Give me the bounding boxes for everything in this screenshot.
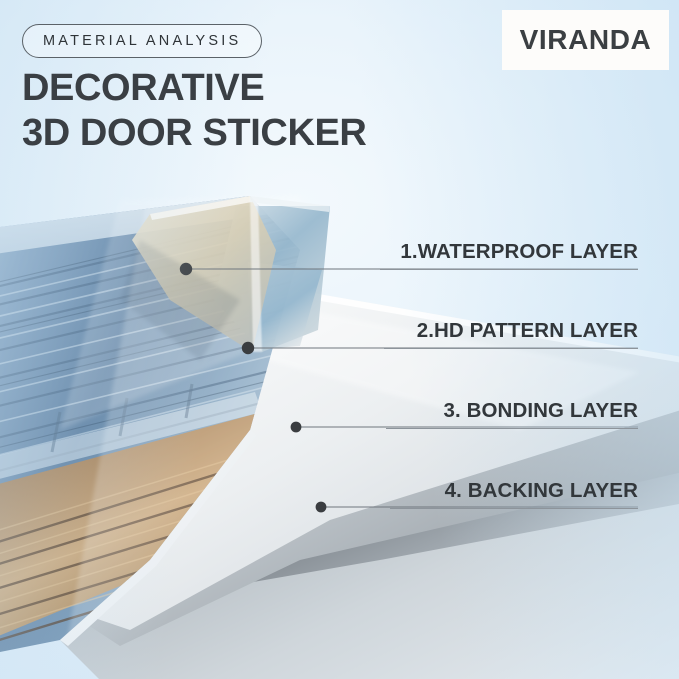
callout-label-4: 4. BACKING LAYER [390, 479, 638, 509]
callout-label-1-text: 1.WATERPROOF LAYER [380, 240, 638, 269]
callout-rule-1 [380, 269, 638, 270]
callout-label-2: 2.HD PATTERN LAYER [384, 319, 638, 349]
callout-label-3: 3. BONDING LAYER [386, 399, 638, 429]
callout-rule-3 [386, 428, 638, 429]
callout-dot-3 [291, 422, 302, 433]
callout-dot-4 [316, 502, 327, 513]
eyebrow-badge: MATERIAL ANALYSIS [22, 24, 262, 58]
callout-label-3-text: 3. BONDING LAYER [386, 399, 638, 428]
title-line-2: 3D DOOR STICKER [22, 111, 366, 156]
material-analysis-infographic: MATERIAL ANALYSIS DECORATIVE 3D DOOR STI… [0, 0, 679, 679]
callout-label-1: 1.WATERPROOF LAYER [380, 240, 638, 270]
callout-label-2-text: 2.HD PATTERN LAYER [384, 319, 638, 348]
brand-logo: VIRANDA [502, 10, 669, 70]
eyebrow-label: MATERIAL ANALYSIS [43, 33, 241, 49]
brand-name: VIRANDA [520, 24, 652, 56]
callout-label-4-text: 4. BACKING LAYER [390, 479, 638, 508]
page-title: DECORATIVE 3D DOOR STICKER [22, 66, 366, 156]
callout-dot-1 [180, 263, 192, 275]
callout-dot-2 [242, 342, 254, 354]
callout-rule-4 [390, 508, 638, 509]
title-line-1: DECORATIVE [22, 67, 264, 109]
callout-rule-2 [384, 348, 638, 349]
